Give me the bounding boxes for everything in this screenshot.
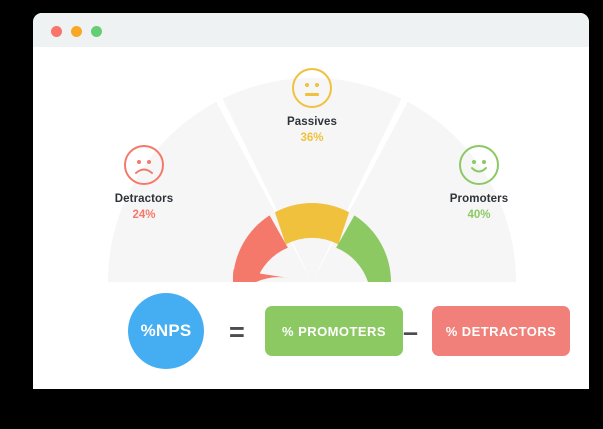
gauge-label-promoters: Promoters 40% [404,145,554,223]
window-content: Detractors 24% Passives 36% [33,47,589,389]
maximize-window-dot[interactable] [91,26,102,37]
face-eye-right [315,83,319,87]
gauge-label-promoters-title: Promoters [404,192,554,206]
face-eye-left [137,160,141,164]
face-mouth-smile [469,166,489,176]
browser-window-card: Detractors 24% Passives 36% [33,13,589,389]
equals-sign: = [229,319,245,346]
neutral-face-icon [292,68,332,108]
gauge-label-passives: Passives 36% [237,68,387,146]
face-eye-left [472,160,476,164]
face-eye-right [147,160,151,164]
gauge-label-promoters-percent: 40% [404,207,554,223]
face-mouth-flat [305,93,319,96]
gauge-label-detractors-title: Detractors [69,192,219,206]
promoters-term-pill: % PROMOTERS [265,306,403,356]
minus-sign: – [403,319,418,346]
face-eye-left [305,83,309,87]
gauge-label-passives-percent: 36% [237,130,387,146]
frowning-face-icon [124,145,164,185]
face-eye-right [482,160,486,164]
gauge-label-detractors: Detractors 24% [69,145,219,223]
gauge-label-passives-title: Passives [237,115,387,129]
minimize-window-dot[interactable] [71,26,82,37]
face-mouth-frown [134,166,154,176]
nps-gauge: Detractors 24% Passives 36% [97,57,527,282]
nps-formula: %NPS = % PROMOTERS – % DETRACTORS [33,293,589,389]
gauge-label-detractors-percent: 24% [69,207,219,223]
window-titlebar [33,13,589,47]
close-window-dot[interactable] [51,26,62,37]
nps-badge: %NPS [128,293,204,369]
smiling-face-icon [459,145,499,185]
detractors-term-pill: % DETRACTORS [432,306,570,356]
